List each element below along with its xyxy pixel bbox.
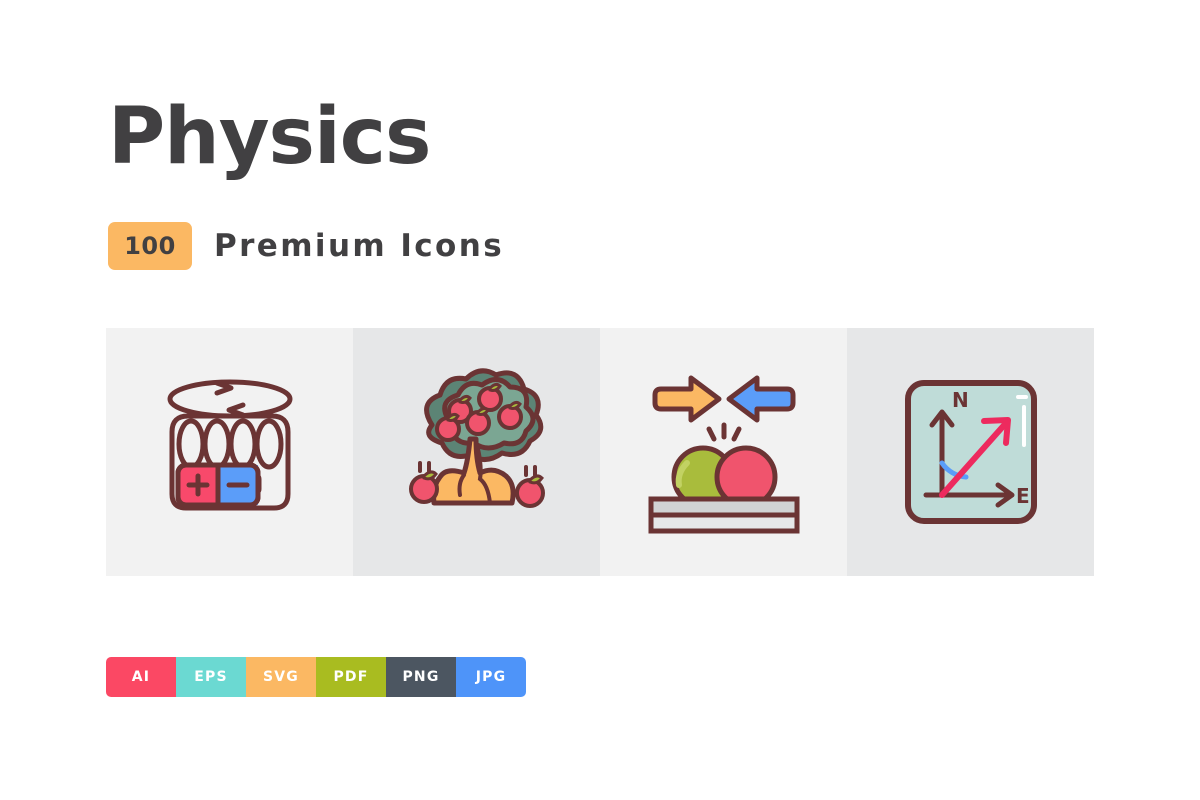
icon-count-badge: 100 — [108, 222, 192, 270]
electromagnet-icon — [145, 367, 315, 537]
battery-glyph — [178, 465, 259, 505]
vector-direction-icon: N E — [886, 367, 1056, 537]
format-badge-png[interactable]: PNG — [386, 657, 456, 697]
axis-label-east: E — [1016, 484, 1030, 508]
icon-preview-strip: N E — [106, 328, 1094, 576]
format-badge-jpg[interactable]: JPG — [456, 657, 526, 697]
page-title: Physics — [108, 98, 430, 176]
gravity-apple-tree-icon — [392, 367, 562, 537]
icon-panel-vector-direction[interactable]: N E — [847, 328, 1094, 576]
format-badge-eps[interactable]: EPS — [176, 657, 246, 697]
arrow-right-icon — [655, 378, 719, 420]
subtitle-label: Premium Icons — [214, 228, 504, 264]
format-badge-svg[interactable]: SVG — [246, 657, 316, 697]
icon-panel-collision[interactable] — [600, 328, 847, 576]
format-badge-group: AI EPS SVG PDF PNG JPG — [106, 657, 526, 697]
format-badge-pdf[interactable]: PDF — [316, 657, 386, 697]
icon-panel-electromagnet[interactable] — [106, 328, 353, 576]
subtitle-row: 100 Premium Icons — [108, 222, 504, 270]
icon-panel-gravity-tree[interactable] — [353, 328, 600, 576]
poster-canvas: Physics 100 Premium Icons — [0, 0, 1200, 800]
format-badge-ai[interactable]: AI — [106, 657, 176, 697]
collision-icon — [639, 367, 809, 537]
axis-label-north: N — [952, 388, 969, 412]
arrow-left-icon — [729, 378, 793, 420]
